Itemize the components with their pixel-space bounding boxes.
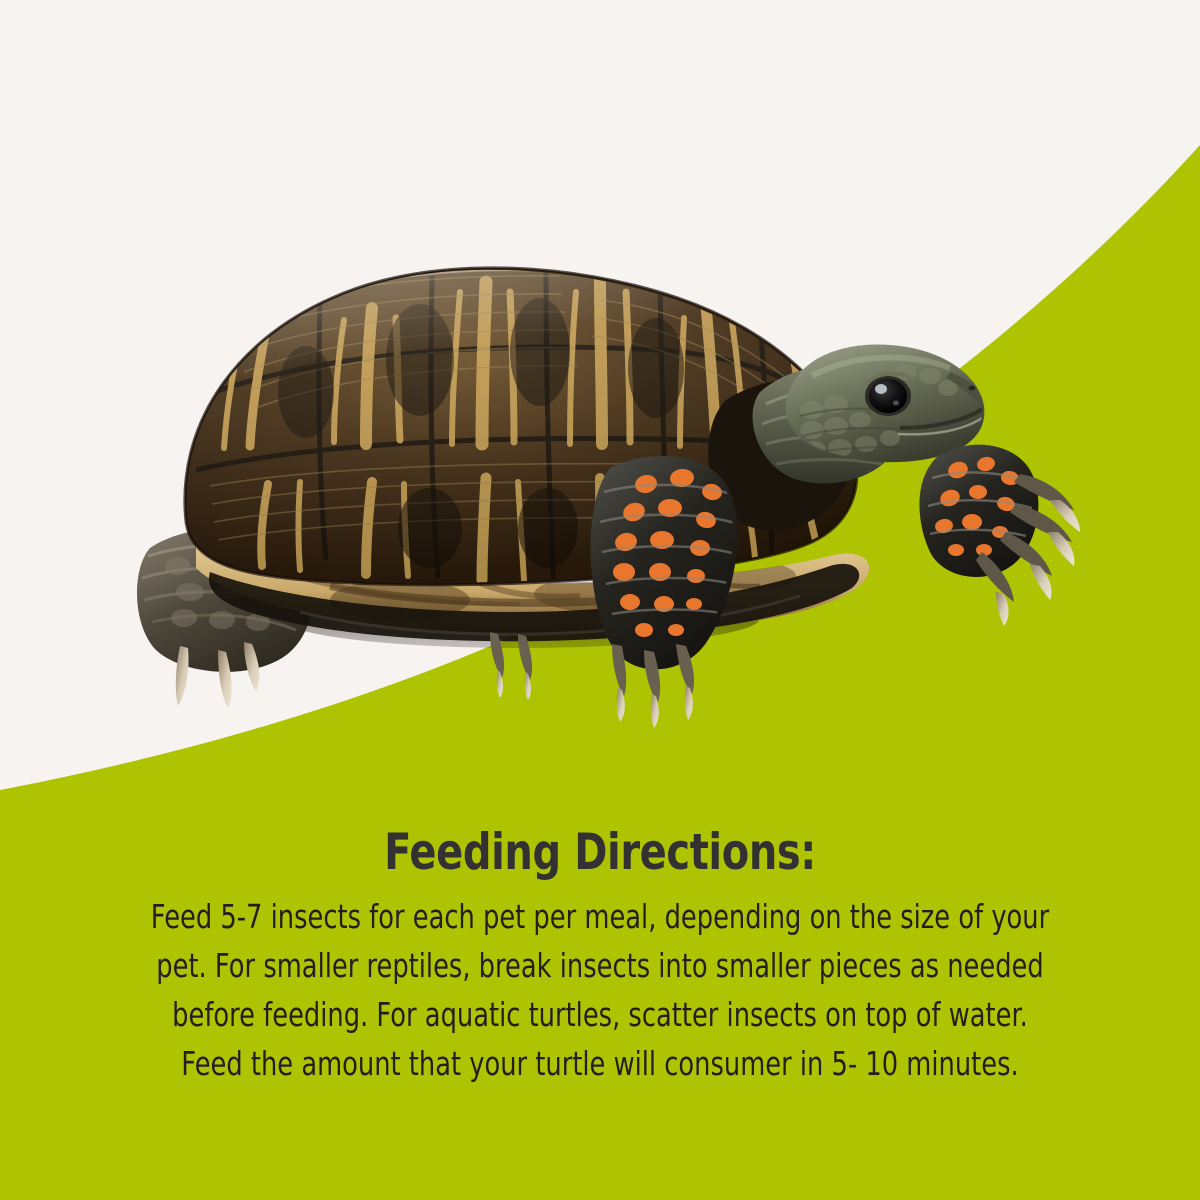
page-title: Feeding Directions: [120, 806, 1080, 880]
turtle-illustration [0, 0, 1200, 800]
turtle-image [0, 0, 1200, 800]
instruction-line-4: Feed the amount that your turtle will co… [132, 1039, 1068, 1088]
instruction-line-1: Feed 5-7 insects for each pet per meal, … [132, 892, 1068, 941]
feeding-directions-panel: Feeding Directions: Feed 5-7 insects for… [0, 806, 1200, 1200]
turtle-front-leg-right [919, 445, 1080, 626]
feeding-instructions-text: Feed 5-7 insects for each pet per meal, … [132, 880, 1068, 1088]
instruction-line-3: before feeding. For aquatic turtles, sca… [132, 990, 1068, 1039]
instruction-line-2: pet. For smaller reptiles, break insects… [132, 941, 1068, 990]
turtle-front-leg-left [591, 456, 738, 728]
product-info-card: Feeding Directions: Feed 5-7 insects for… [0, 0, 1200, 1200]
